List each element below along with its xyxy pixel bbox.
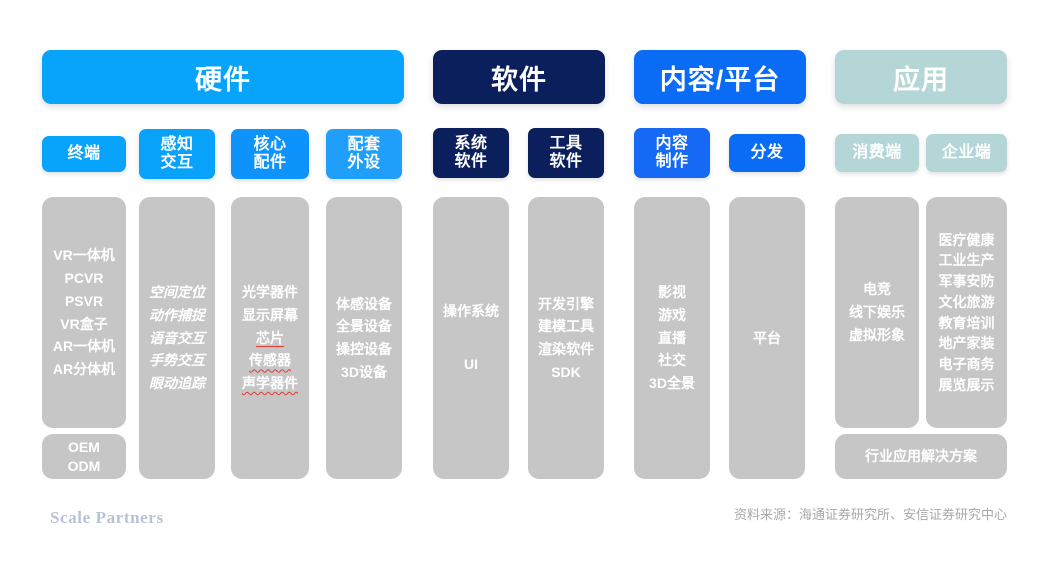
column-tool-software: 开发引擎 建模工具 渲染软件 SDK — [528, 197, 604, 479]
list-item: 眼动追踪 — [149, 372, 205, 395]
list-item: 电竞 — [863, 278, 891, 301]
list-item: 社交 — [658, 349, 686, 372]
list-item: VR一体机 — [53, 244, 114, 267]
list-item: 体感设备 — [336, 293, 392, 316]
pill-content-production[interactable]: 内容 制作 — [634, 128, 710, 178]
list-item: 虚拟形象 — [849, 324, 905, 347]
pill-core-components[interactable]: 核心 配件 — [231, 129, 309, 179]
list-item: 直播 — [658, 327, 686, 350]
pill-tool-software[interactable]: 工具 软件 — [528, 128, 604, 178]
list-item: 全景设备 — [336, 315, 392, 338]
list-item: 军事安防 — [939, 271, 995, 292]
list-item: 影视 — [658, 281, 686, 304]
list-item: 光学器件 — [242, 281, 298, 304]
list-item: 游戏 — [658, 304, 686, 327]
header-content[interactable]: 内容/平台 — [634, 50, 806, 104]
list-item: 显示屏幕 — [242, 304, 298, 327]
list-item: 电子商务 — [939, 354, 995, 375]
list-item: 线下娱乐 — [849, 301, 905, 324]
list-item: 语音交互 — [149, 327, 205, 350]
column-system-software: 操作系统 UI — [433, 197, 509, 479]
pill-enterprise[interactable]: 企业端 — [926, 134, 1007, 172]
column-core-components: 光学器件 显示屏幕 芯片 传感器 声学器件 — [231, 197, 309, 479]
list-item: 文化旅游 — [939, 292, 995, 313]
list-item: 芯片 — [256, 327, 284, 350]
column-distribution: 平台 — [729, 197, 805, 479]
list-item: 动作捕捉 — [149, 304, 205, 327]
list-item: 3D全景 — [649, 372, 695, 395]
list-item: SDK — [551, 361, 581, 384]
list-item: PCVR — [65, 267, 104, 290]
list-item: AR分体机 — [53, 358, 115, 381]
source-citation: 资料来源：海通证券研究所、安信证券研究中心 — [734, 504, 1007, 523]
list-item: 医疗健康 — [939, 230, 995, 251]
list-item: 开发引擎 — [538, 293, 594, 316]
header-hardware[interactable]: 硬件 — [42, 50, 404, 104]
pill-distribution[interactable]: 分发 — [729, 134, 805, 172]
list-item: 操控设备 — [336, 338, 392, 361]
list-item: AR一体机 — [53, 335, 115, 358]
list-item: 手势交互 — [149, 349, 205, 372]
pill-peripherals[interactable]: 配套 外设 — [326, 129, 402, 179]
list-item: 平台 — [753, 327, 781, 350]
header-application[interactable]: 应用 — [835, 50, 1007, 104]
list-item: PSVR — [65, 290, 103, 313]
list-item: 空间定位 — [149, 281, 205, 304]
list-item: 渲染软件 — [538, 338, 594, 361]
list-item: ODM — [68, 457, 101, 476]
list-item: UI — [464, 353, 478, 376]
column-peripherals: 体感设备 全景设备 操控设备 3D设备 — [326, 197, 402, 479]
pill-sensing-interaction[interactable]: 感知 交互 — [139, 129, 215, 179]
box-oem-odm: OEM ODM — [42, 434, 126, 479]
column-enterprise: 医疗健康 工业生产 军事安防 文化旅游 教育培训 地产家装 电子商务 展览展示 — [926, 197, 1007, 428]
pill-consumer[interactable]: 消费端 — [835, 134, 919, 172]
column-consumer: 电竞 线下娱乐 虚拟形象 — [835, 197, 919, 428]
list-item: 3D设备 — [341, 361, 387, 384]
list-item: 传感器 — [249, 349, 291, 372]
column-sensing-interaction: 空间定位 动作捕捉 语音交互 手势交互 眼动追踪 — [139, 197, 215, 479]
list-item: 操作系统 — [443, 300, 499, 323]
pill-system-software[interactable]: 系统 软件 — [433, 128, 509, 178]
column-content-production: 影视 游戏 直播 社交 3D全景 — [634, 197, 710, 479]
pill-terminal[interactable]: 终端 — [42, 136, 126, 172]
list-item: 工业生产 — [939, 250, 995, 271]
header-software[interactable]: 软件 — [433, 50, 605, 104]
column-terminal: VR一体机 PCVR PSVR VR盒子 AR一体机 AR分体机 — [42, 197, 126, 428]
diagram-canvas: 硬件 软件 内容/平台 应用 终端 感知 交互 核心 配件 配套 外设 系统 软… — [0, 0, 1049, 567]
list-item: 声学器件 — [242, 372, 298, 395]
list-item: 地产家装 — [939, 333, 995, 354]
box-industry-solutions: 行业应用解决方案 — [835, 434, 1007, 479]
list-item: 教育培训 — [939, 313, 995, 334]
list-item: OEM — [68, 438, 100, 457]
list-item: 行业应用解决方案 — [865, 447, 977, 466]
list-item: VR盒子 — [60, 313, 107, 336]
list-item: 建模工具 — [538, 315, 594, 338]
brand-logo: Scale Partners — [50, 508, 164, 528]
list-item: 展览展示 — [939, 375, 995, 396]
